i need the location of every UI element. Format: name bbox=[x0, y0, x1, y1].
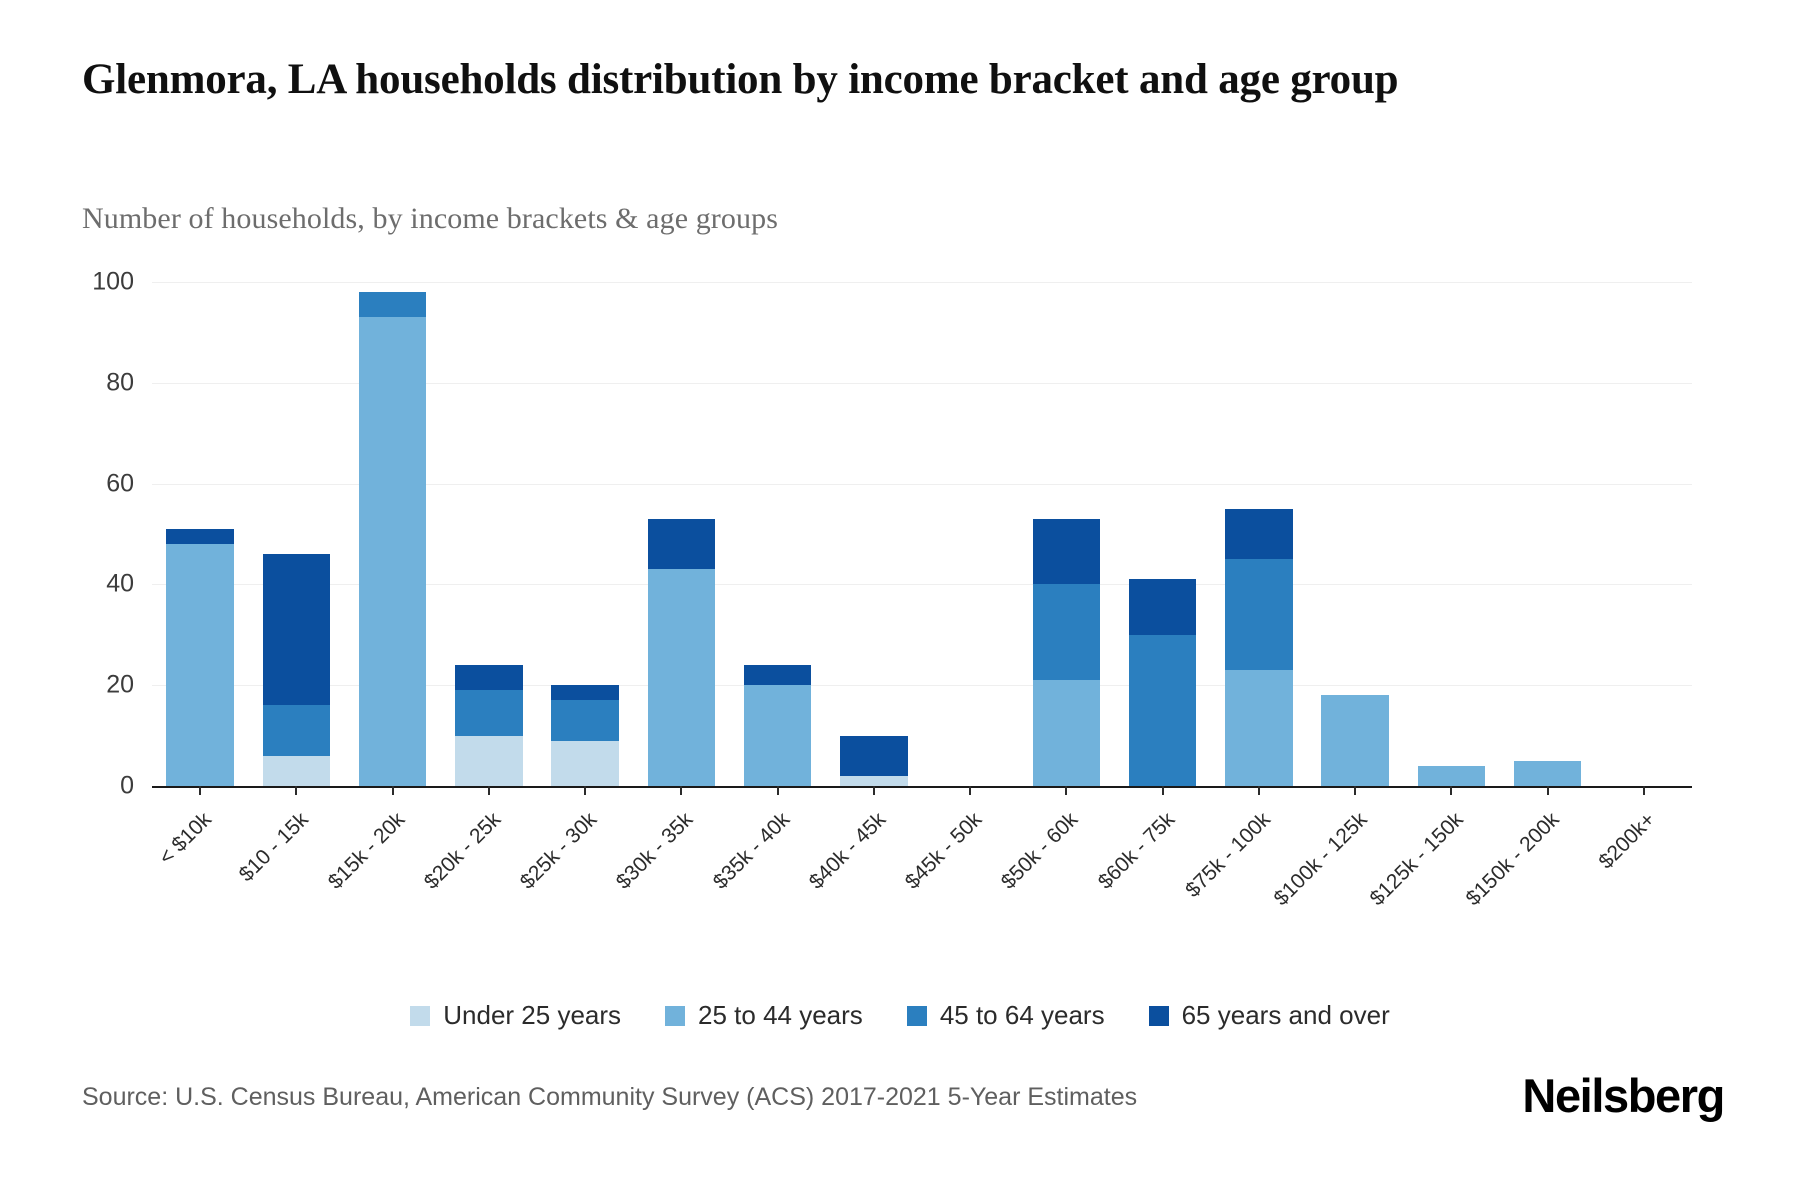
x-tick-mark bbox=[488, 786, 490, 795]
x-label-slot: $10 - 15k bbox=[248, 800, 344, 910]
bar-segment[interactable] bbox=[455, 736, 522, 786]
bar-stack[interactable] bbox=[166, 529, 233, 786]
x-tick-mark bbox=[777, 786, 779, 795]
bar-stack[interactable] bbox=[648, 519, 715, 786]
chart-legend: Under 25 years25 to 44 years45 to 64 yea… bbox=[0, 1000, 1800, 1031]
bar-segment[interactable] bbox=[263, 756, 330, 786]
bar-group[interactable] bbox=[633, 282, 729, 786]
bar-stack[interactable] bbox=[840, 736, 907, 786]
bar-segment[interactable] bbox=[166, 529, 233, 544]
x-tick-slot bbox=[152, 786, 248, 796]
x-tick-mark bbox=[1450, 786, 1452, 795]
legend-swatch-icon bbox=[665, 1006, 685, 1026]
x-tick-mark bbox=[1547, 786, 1549, 795]
bar-segment[interactable] bbox=[744, 685, 811, 786]
legend-item[interactable]: Under 25 years bbox=[410, 1000, 621, 1031]
x-tick-slot bbox=[441, 786, 537, 796]
bar-segment[interactable] bbox=[840, 776, 907, 786]
x-label-slot: $25k - 30k bbox=[537, 800, 633, 910]
bar-group[interactable] bbox=[441, 282, 537, 786]
bar-segment[interactable] bbox=[1225, 670, 1292, 786]
brand-logo: Neilsberg bbox=[1522, 1068, 1724, 1123]
bar-segment[interactable] bbox=[263, 705, 330, 755]
x-tick-slot bbox=[537, 786, 633, 796]
y-axis-tick-label: 40 bbox=[14, 570, 134, 599]
x-label-slot: $15k - 20k bbox=[345, 800, 441, 910]
x-tick-slot bbox=[1018, 786, 1114, 796]
bar-stack[interactable] bbox=[1418, 766, 1485, 786]
x-tick-slot bbox=[1500, 786, 1596, 796]
x-tick-mark bbox=[295, 786, 297, 795]
bar-segment[interactable] bbox=[1033, 519, 1100, 585]
x-tick-slot bbox=[1403, 786, 1499, 796]
bar-group[interactable] bbox=[152, 282, 248, 786]
bar-segment[interactable] bbox=[1321, 695, 1388, 786]
x-tick-slot bbox=[345, 786, 441, 796]
bar-segment[interactable] bbox=[359, 292, 426, 317]
x-label-slot: $20k - 25k bbox=[441, 800, 537, 910]
page-title: Glenmora, LA households distribution by … bbox=[82, 52, 1642, 109]
x-tick-slot bbox=[1211, 786, 1307, 796]
bar-segment[interactable] bbox=[648, 569, 715, 786]
bar-segment[interactable] bbox=[1514, 761, 1581, 786]
legend-item-label: 25 to 44 years bbox=[698, 1000, 863, 1031]
bar-segment[interactable] bbox=[648, 519, 715, 569]
bar-group[interactable] bbox=[537, 282, 633, 786]
bar-segment[interactable] bbox=[551, 741, 618, 786]
bar-segment[interactable] bbox=[1129, 635, 1196, 786]
x-tick-mark bbox=[1643, 786, 1645, 795]
bar-stack[interactable] bbox=[1514, 761, 1581, 786]
x-tick-mark bbox=[873, 786, 875, 795]
x-tick-mark bbox=[1354, 786, 1356, 795]
x-tick-slot bbox=[1596, 786, 1692, 796]
bar-segment[interactable] bbox=[455, 665, 522, 690]
x-axis-tick-label: $200k+ bbox=[1595, 808, 1661, 874]
bar-group[interactable] bbox=[1115, 282, 1211, 786]
bar-stack[interactable] bbox=[551, 685, 618, 786]
x-tick-mark bbox=[1065, 786, 1067, 795]
bar-segment[interactable] bbox=[1129, 579, 1196, 634]
x-label-slot: $200k+ bbox=[1596, 800, 1692, 910]
bar-segment[interactable] bbox=[551, 700, 618, 740]
y-axis-tick-label: 60 bbox=[14, 469, 134, 498]
bar-segment[interactable] bbox=[1225, 509, 1292, 559]
bar-group[interactable] bbox=[922, 282, 1018, 786]
x-tick-slot bbox=[922, 786, 1018, 796]
bar-segment[interactable] bbox=[744, 665, 811, 685]
bar-group[interactable] bbox=[1500, 282, 1596, 786]
bar-stack[interactable] bbox=[263, 554, 330, 786]
x-axis-labels: < $10k$10 - 15k$15k - 20k$20k - 25k$25k … bbox=[152, 800, 1692, 910]
bar-group[interactable] bbox=[248, 282, 344, 786]
x-label-slot: $35k - 40k bbox=[730, 800, 826, 910]
bar-stack[interactable] bbox=[1033, 519, 1100, 786]
legend-swatch-icon bbox=[907, 1006, 927, 1026]
bar-segment[interactable] bbox=[1033, 680, 1100, 786]
bar-series-group bbox=[152, 282, 1692, 786]
source-note: Source: U.S. Census Bureau, American Com… bbox=[82, 1083, 1137, 1112]
x-tick-mark bbox=[1162, 786, 1164, 795]
bar-segment[interactable] bbox=[1225, 559, 1292, 670]
chart-subtitle: Number of households, by income brackets… bbox=[82, 202, 778, 236]
y-axis-tick-label: 80 bbox=[14, 368, 134, 397]
y-axis-tick-label: 100 bbox=[14, 268, 134, 297]
x-tick-slot bbox=[633, 786, 729, 796]
x-tick-slot bbox=[1115, 786, 1211, 796]
x-tick-mark bbox=[680, 786, 682, 795]
bar-stack[interactable] bbox=[1129, 579, 1196, 786]
x-label-slot: $45k - 50k bbox=[922, 800, 1018, 910]
bar-segment[interactable] bbox=[1033, 584, 1100, 680]
x-tick-slot bbox=[1307, 786, 1403, 796]
bar-group[interactable] bbox=[1596, 282, 1692, 786]
plot-area: 020406080100 bbox=[152, 282, 1692, 786]
legend-item[interactable]: 25 to 44 years bbox=[665, 1000, 863, 1031]
x-label-slot: < $10k bbox=[152, 800, 248, 910]
bar-group[interactable] bbox=[730, 282, 826, 786]
bar-segment[interactable] bbox=[263, 554, 330, 705]
legend-item-label: 45 to 64 years bbox=[940, 1000, 1105, 1031]
x-tick-slot bbox=[248, 786, 344, 796]
x-axis-tick-label: < $10k bbox=[155, 808, 217, 870]
bar-group[interactable] bbox=[1403, 282, 1499, 786]
legend-swatch-icon bbox=[1149, 1006, 1169, 1026]
bar-group[interactable] bbox=[1018, 282, 1114, 786]
x-tick-mark bbox=[392, 786, 394, 795]
y-axis-tick-label: 0 bbox=[14, 772, 134, 801]
bar-group[interactable] bbox=[826, 282, 922, 786]
x-tick-mark bbox=[969, 786, 971, 795]
bar-group[interactable] bbox=[345, 282, 441, 786]
bar-segment[interactable] bbox=[359, 317, 426, 786]
x-tick-mark bbox=[199, 786, 201, 795]
bar-stack[interactable] bbox=[359, 292, 426, 786]
bar-stack[interactable] bbox=[1225, 509, 1292, 786]
bar-stack[interactable] bbox=[744, 665, 811, 786]
bar-segment[interactable] bbox=[551, 685, 618, 700]
bar-stack[interactable] bbox=[1321, 695, 1388, 786]
x-axis-tick-marks bbox=[152, 786, 1692, 796]
x-tick-slot bbox=[826, 786, 922, 796]
x-label-slot: $40k - 45k bbox=[826, 800, 922, 910]
y-axis-tick-label: 20 bbox=[14, 671, 134, 700]
bar-group[interactable] bbox=[1307, 282, 1403, 786]
x-label-slot: $150k - 200k bbox=[1500, 800, 1596, 910]
x-tick-mark bbox=[584, 786, 586, 795]
x-label-slot: $30k - 35k bbox=[633, 800, 729, 910]
legend-swatch-icon bbox=[410, 1006, 430, 1026]
x-tick-slot bbox=[730, 786, 826, 796]
x-tick-mark bbox=[1258, 786, 1260, 795]
legend-item[interactable]: 45 to 64 years bbox=[907, 1000, 1105, 1031]
bar-group[interactable] bbox=[1211, 282, 1307, 786]
x-label-slot: $50k - 60k bbox=[1018, 800, 1114, 910]
bar-stack[interactable] bbox=[455, 665, 522, 786]
chart-page: Glenmora, LA households distribution by … bbox=[0, 0, 1800, 1200]
bar-segment[interactable] bbox=[840, 736, 907, 776]
bar-segment[interactable] bbox=[455, 690, 522, 735]
bar-segment[interactable] bbox=[166, 544, 233, 786]
legend-item[interactable]: 65 years and over bbox=[1149, 1000, 1390, 1031]
bar-segment[interactable] bbox=[1418, 766, 1485, 786]
legend-item-label: 65 years and over bbox=[1182, 1000, 1390, 1031]
legend-item-label: Under 25 years bbox=[443, 1000, 621, 1031]
